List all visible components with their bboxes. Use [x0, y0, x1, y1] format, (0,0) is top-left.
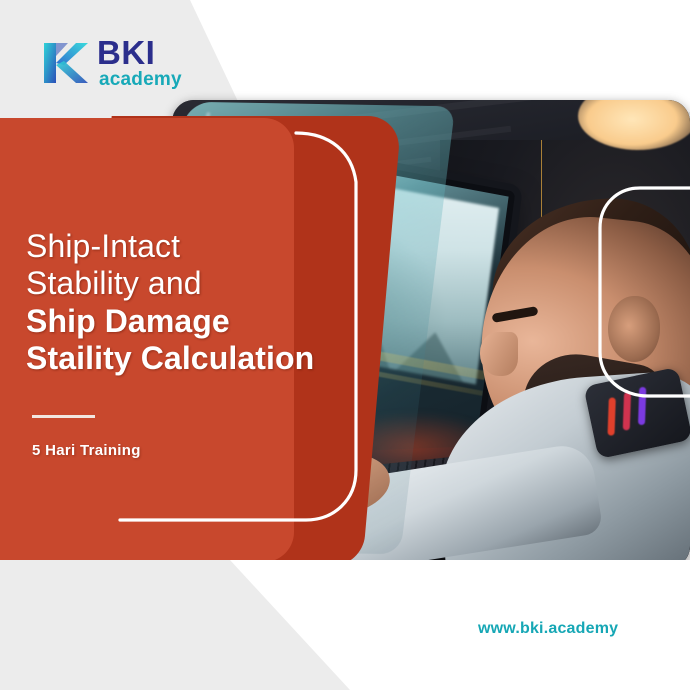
title-line: Ship-Intact	[26, 228, 356, 265]
website-url[interactable]: www.bki.academy	[478, 620, 618, 638]
title-line: Stability and	[26, 265, 356, 302]
title-divider-rule	[32, 415, 95, 418]
logo-wordmark: BKI	[97, 36, 182, 69]
person-nose	[480, 332, 518, 376]
person-ear	[608, 296, 660, 362]
hero-subtitle: 5 Hari Training	[32, 442, 141, 459]
title-line: Staility Calculation	[26, 340, 356, 377]
brand-logo[interactable]: BKI academy	[42, 36, 182, 89]
logo-subwordmark: academy	[99, 70, 182, 89]
hero-title-block: Ship-Intact Stability and Ship Damage St…	[26, 228, 356, 378]
title-line: Ship Damage	[26, 303, 356, 340]
poster-canvas: BKI academy Ship-Intact Stability and Sh…	[0, 0, 690, 690]
bki-mark-icon	[42, 39, 88, 87]
